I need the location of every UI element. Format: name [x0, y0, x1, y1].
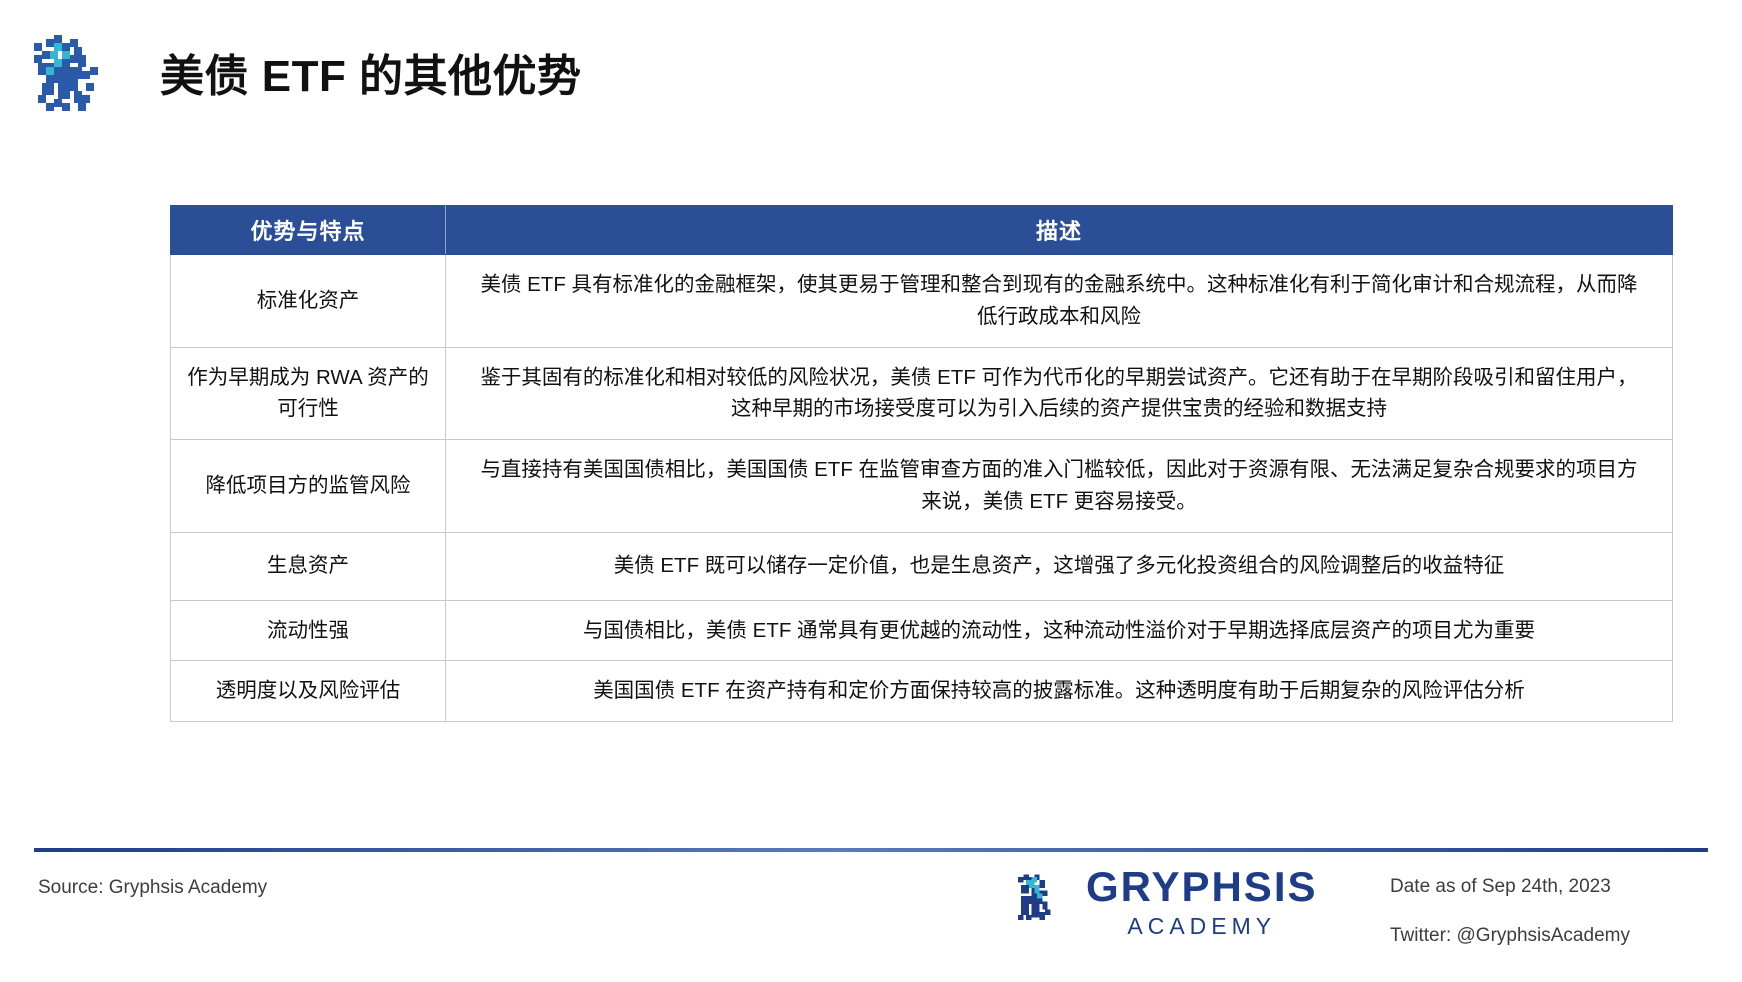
advantages-table-container: 优势与特点 描述 标准化资产 美债 ETF 具有标准化的金融框架，使其更易于管理…	[170, 205, 1672, 722]
page-title: 美债 ETF 的其他优势	[160, 55, 582, 99]
cell-feature: 标准化资产	[171, 255, 446, 348]
table-row: 作为早期成为 RWA 资产的可行性 鉴于其固有的标准化和相对较低的风险状况，美债…	[171, 347, 1673, 440]
slide-header: 美债 ETF 的其他优势	[26, 22, 1742, 132]
cell-description: 美债 ETF 具有标准化的金融框架，使其更易于管理和整合到现有的金融系统中。这种…	[446, 255, 1673, 348]
cell-feature: 作为早期成为 RWA 资产的可行性	[171, 347, 446, 440]
advantages-table: 优势与特点 描述 标准化资产 美债 ETF 具有标准化的金融框架，使其更易于管理…	[170, 205, 1673, 722]
cell-feature: 降低项目方的监管风险	[171, 440, 446, 533]
cell-description: 与国债相比，美债 ETF 通常具有更优越的流动性，这种流动性溢价对于早期选择底层…	[446, 600, 1673, 661]
table-header-row: 优势与特点 描述	[171, 206, 1673, 255]
column-header-description: 描述	[446, 206, 1673, 255]
gryphsis-griffin-logo-icon	[26, 31, 118, 123]
cell-description: 鉴于其固有的标准化和相对较低的风险状况，美债 ETF 可作为代币化的早期尝试资产…	[446, 347, 1673, 440]
gryphsis-griffin-logo-small-icon	[1010, 869, 1072, 936]
cell-feature: 流动性强	[171, 600, 446, 661]
cell-description: 美债 ETF 既可以储存一定价值，也是生息资产，这增强了多元化投资组合的风险调整…	[446, 532, 1673, 600]
column-header-feature: 优势与特点	[171, 206, 446, 255]
table-row: 生息资产 美债 ETF 既可以储存一定价值，也是生息资产，这增强了多元化投资组合…	[171, 532, 1673, 600]
footer-twitter: Twitter: @GryphsisAcademy	[1390, 925, 1630, 947]
cell-description: 美国国债 ETF 在资产持有和定价方面保持较高的披露标准。这种透明度有助于后期复…	[446, 661, 1673, 722]
table-row: 透明度以及风险评估 美国国债 ETF 在资产持有和定价方面保持较高的披露标准。这…	[171, 661, 1673, 722]
cell-feature: 透明度以及风险评估	[171, 661, 446, 722]
table-body: 标准化资产 美债 ETF 具有标准化的金融框架，使其更易于管理和整合到现有的金融…	[171, 255, 1673, 722]
footer-brand: GRYPHSIS ACADEMY	[1010, 866, 1318, 938]
table-row: 流动性强 与国债相比，美债 ETF 通常具有更优越的流动性，这种流动性溢价对于早…	[171, 600, 1673, 661]
brand-subtitle: ACADEMY	[1127, 915, 1276, 938]
footer-date: Date as of Sep 24th, 2023	[1390, 876, 1611, 898]
cell-feature: 生息资产	[171, 532, 446, 600]
footer-divider	[34, 848, 1708, 852]
footer-source: Source: Gryphsis Academy	[38, 877, 267, 899]
cell-description: 与直接持有美国国债相比，美国国债 ETF 在监管审查方面的准入门槛较低，因此对于…	[446, 440, 1673, 533]
table-row: 降低项目方的监管风险 与直接持有美国国债相比，美国国债 ETF 在监管审查方面的…	[171, 440, 1673, 533]
table-row: 标准化资产 美债 ETF 具有标准化的金融框架，使其更易于管理和整合到现有的金融…	[171, 255, 1673, 348]
brand-name: GRYPHSIS	[1086, 866, 1318, 908]
